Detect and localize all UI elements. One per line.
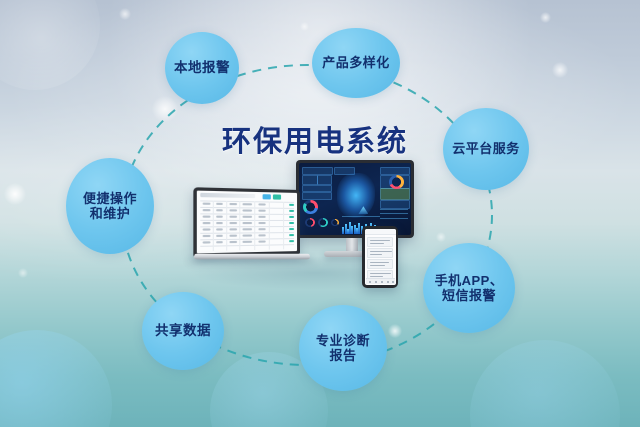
bubble-line: 产品多样化 <box>318 55 394 70</box>
feature-bubble-diagnostic-report[interactable]: 专业诊断 报告 <box>299 305 387 391</box>
monitor-screen <box>299 163 411 235</box>
page-title: 环保用电系统 <box>222 118 408 160</box>
deco-circle-top-left <box>0 0 100 90</box>
phone-screen <box>365 229 396 285</box>
bubble-line: 共享数据 <box>151 323 215 339</box>
feature-bubble-cloud-platform[interactable]: 云平台服务 <box>443 108 529 190</box>
bokeh-dot <box>4 183 26 205</box>
device-group <box>196 160 432 320</box>
poster-canvas: 环保用电系统 本地报警 产品多样化 云平台服务 手机APP、 短信报警 专业诊断… <box>0 0 640 427</box>
mobile-phone <box>362 226 398 288</box>
bokeh-dot <box>300 22 309 31</box>
bubble-line: 云平台服务 <box>448 141 524 156</box>
feature-bubble-shared-data[interactable]: 共享数据 <box>142 292 224 370</box>
dashboard-map <box>337 173 375 218</box>
bubble-line: 本地报警 <box>170 60 234 76</box>
monitor-stand-neck <box>346 238 358 251</box>
feature-bubble-easy-operation[interactable]: 便捷操作 和维护 <box>66 158 154 254</box>
bokeh-dot <box>552 62 568 78</box>
feature-bubble-product-diversity[interactable]: 产品多样化 <box>312 28 400 98</box>
bokeh-dot <box>436 232 446 242</box>
bubble-line: 手机APP、 <box>431 273 508 288</box>
bokeh-dot <box>119 8 131 20</box>
laptop-screen <box>197 191 297 254</box>
bubble-line: 报告 <box>312 348 374 363</box>
device-shadow <box>190 256 440 290</box>
feature-bubble-local-alarm[interactable]: 本地报警 <box>165 32 239 104</box>
laptop <box>200 190 304 260</box>
laptop-keyboard-base <box>193 254 311 260</box>
bubble-line: 和维护 <box>79 206 141 221</box>
bokeh-dot <box>18 268 28 278</box>
bokeh-dot <box>388 324 402 338</box>
bubble-line: 便捷操作 <box>79 191 141 206</box>
bokeh-dot <box>540 12 551 23</box>
bubble-line: 短信报警 <box>431 288 508 303</box>
feature-bubble-app-sms-alarm[interactable]: 手机APP、 短信报警 <box>423 243 515 333</box>
deco-circle-bottom-left <box>0 330 112 427</box>
bokeh-dot <box>152 96 178 122</box>
deco-circle-bottom-right <box>470 340 620 427</box>
bubble-line: 专业诊断 <box>312 333 374 348</box>
